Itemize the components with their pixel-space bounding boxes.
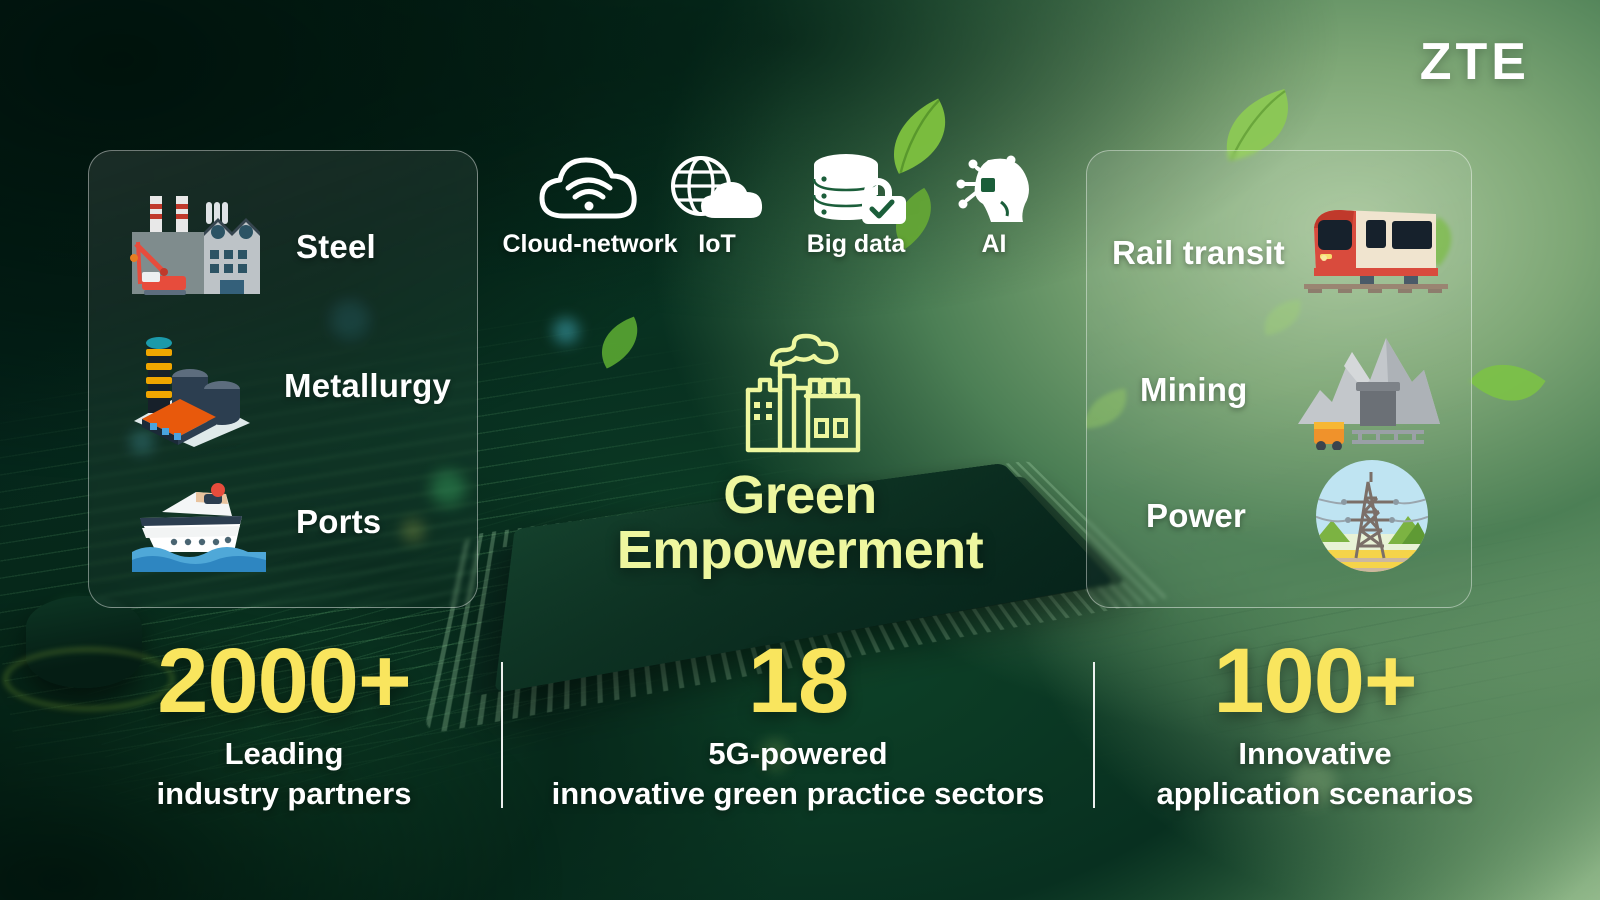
port-ship-icon (130, 470, 270, 574)
stat-number: 2000+ (74, 636, 494, 726)
stat-desc-line-2: application scenarios (1100, 774, 1530, 814)
industry-label: Power (1146, 497, 1294, 535)
industry-label: Metallurgy (284, 367, 451, 405)
power-tower-icon (1314, 458, 1430, 574)
stat-partners: 2000+ Leading industry partners (74, 636, 494, 814)
industry-label: Mining (1140, 371, 1288, 409)
steel-factory-icon (120, 188, 270, 306)
database-lock-icon (776, 152, 936, 224)
tech-item-ai[interactable]: AI (938, 152, 1050, 259)
stat-number: 100+ (1100, 636, 1530, 726)
tech-item-iot[interactable]: IoT (662, 152, 772, 259)
globe-cloud-icon (662, 152, 772, 224)
stat-scenarios: 100+ Innovative application scenarios (1100, 636, 1530, 814)
statistics-row: 2000+ Leading industry partners 18 5G-po… (0, 636, 1600, 826)
ai-head-chip-icon (938, 152, 1050, 224)
stat-desc-line-1: Innovative (1100, 734, 1530, 774)
center-headline-block: Green Empowerment (560, 332, 1040, 578)
industry-item-metallurgy[interactable]: Metallurgy (128, 325, 468, 447)
title-line-1: Green (560, 468, 1040, 523)
stat-desc-line-1: 5G-powered (534, 734, 1062, 774)
technology-icons-row: Cloud-network IoT (486, 152, 1066, 272)
tech-item-big-data[interactable]: Big data (776, 152, 936, 259)
stat-number: 18 (534, 636, 1062, 726)
industry-item-rail-transit[interactable]: Rail transit (1112, 198, 1462, 308)
industry-label: Rail transit (1112, 234, 1288, 272)
tech-label: Big data (776, 230, 936, 259)
mining-mountain-icon (1294, 330, 1444, 450)
stat-divider (1093, 662, 1095, 808)
stat-divider (501, 662, 503, 808)
stat-description: Innovative application scenarios (1100, 734, 1530, 813)
stat-description: 5G-powered innovative green practice sec… (534, 734, 1062, 813)
industry-item-power[interactable]: Power (1146, 458, 1476, 574)
stat-description: Leading industry partners (74, 734, 494, 813)
industry-item-ports[interactable]: Ports (130, 470, 470, 574)
stat-desc-line-2: innovative green practice sectors (534, 774, 1062, 814)
tech-label: AI (938, 230, 1050, 259)
infographic-poster: ZTE (0, 0, 1600, 900)
factory-icon (560, 332, 1040, 456)
tech-label: IoT (662, 230, 772, 259)
title-line-2: Empowerment (560, 523, 1040, 578)
industry-item-steel[interactable]: Steel (120, 188, 460, 306)
stat-desc-line-1: Leading (74, 734, 494, 774)
train-icon (1294, 198, 1454, 308)
zte-logo: ZTE (1420, 32, 1530, 92)
industry-item-mining[interactable]: Mining (1140, 330, 1470, 450)
metallurgy-plant-icon (128, 325, 268, 447)
industry-label: Steel (296, 228, 376, 266)
industry-label: Ports (296, 503, 381, 541)
stat-desc-line-2: industry partners (74, 774, 494, 814)
page-title: Green Empowerment (560, 468, 1040, 578)
stat-sectors: 18 5G-powered innovative green practice … (534, 636, 1062, 814)
